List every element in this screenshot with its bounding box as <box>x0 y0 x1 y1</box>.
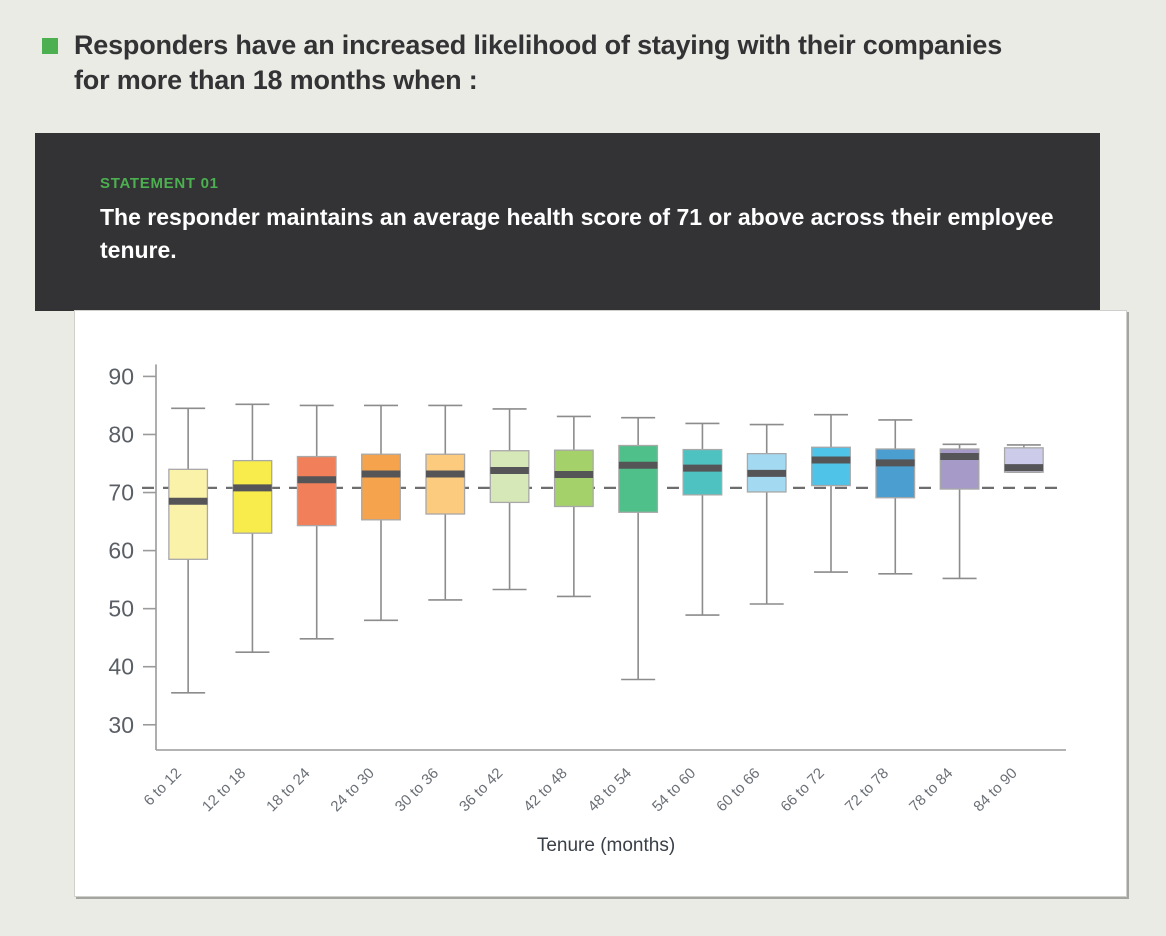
x-tick-label: 18 to 24 <box>263 765 313 815</box>
box-rect <box>426 454 465 514</box>
box-plot-item <box>1005 445 1044 472</box>
statement-panel: STATEMENT 01 The responder maintains an … <box>35 133 1100 311</box>
statement-label: STATEMENT 01 <box>100 175 219 192</box>
y-tick-label: 30 <box>108 712 134 738</box>
y-tick-label: 50 <box>108 596 134 622</box>
x-tick-label: 30 to 36 <box>392 765 442 815</box>
statement-text: The responder maintains an average healt… <box>100 201 1060 266</box>
box-rect <box>490 451 529 503</box>
x-tick-label: 24 to 30 <box>327 765 377 815</box>
x-tick-label: 6 to 12 <box>141 765 185 809</box>
box-rect <box>683 450 722 495</box>
x-tick-label: 78 to 84 <box>906 765 956 815</box>
x-tick-label: 42 to 48 <box>520 765 570 815</box>
box-rect <box>619 446 658 513</box>
bullet-square-icon <box>42 38 58 54</box>
box-rect <box>362 454 401 520</box>
box-plot-item <box>555 416 594 596</box>
box-plot-item <box>940 444 979 578</box>
y-tick-label: 60 <box>108 538 134 564</box>
x-tick-label: 84 to 90 <box>970 765 1020 815</box>
box-plot-item <box>426 405 465 600</box>
box-rect <box>555 450 594 506</box>
box-plot-item <box>747 425 786 604</box>
x-tick-label: 36 to 42 <box>456 765 506 815</box>
box-plot-item <box>812 415 851 572</box>
y-tick-label: 80 <box>108 421 134 447</box>
box-rect <box>876 449 915 498</box>
box-plot-item <box>490 409 529 590</box>
x-tick-label: 66 to 72 <box>777 765 827 815</box>
box-plot-item <box>169 408 208 692</box>
headline: Responders have an increased likelihood … <box>42 28 1042 97</box>
box-plot-item <box>876 420 915 574</box>
box-rect <box>297 457 336 526</box>
box-plot-item <box>297 405 336 638</box>
box-plot-item <box>619 418 658 680</box>
x-axis-title: Tenure (months) <box>537 835 675 856</box>
x-tick-label: 12 to 18 <box>199 765 249 815</box>
x-tick-label: 72 to 78 <box>842 765 892 815</box>
box-plot-chart: 304050607080906 to 1212 to 1818 to 2424 … <box>75 311 1126 896</box>
chart-panel: 304050607080906 to 1212 to 1818 to 2424 … <box>74 310 1127 897</box>
y-tick-label: 90 <box>108 363 134 389</box>
headline-text: Responders have an increased likelihood … <box>74 28 1042 97</box>
box-rect <box>812 447 851 485</box>
y-tick-label: 40 <box>108 654 134 680</box>
box-rect <box>169 469 208 559</box>
x-tick-label: 60 to 66 <box>713 765 763 815</box>
box-plot-item <box>683 423 722 615</box>
box-plot-item <box>362 405 401 620</box>
box-plot-item <box>233 404 272 652</box>
x-tick-label: 48 to 54 <box>585 765 635 815</box>
x-tick-label: 54 to 60 <box>649 765 699 815</box>
y-tick-label: 70 <box>108 480 134 506</box>
box-rect <box>233 461 272 534</box>
